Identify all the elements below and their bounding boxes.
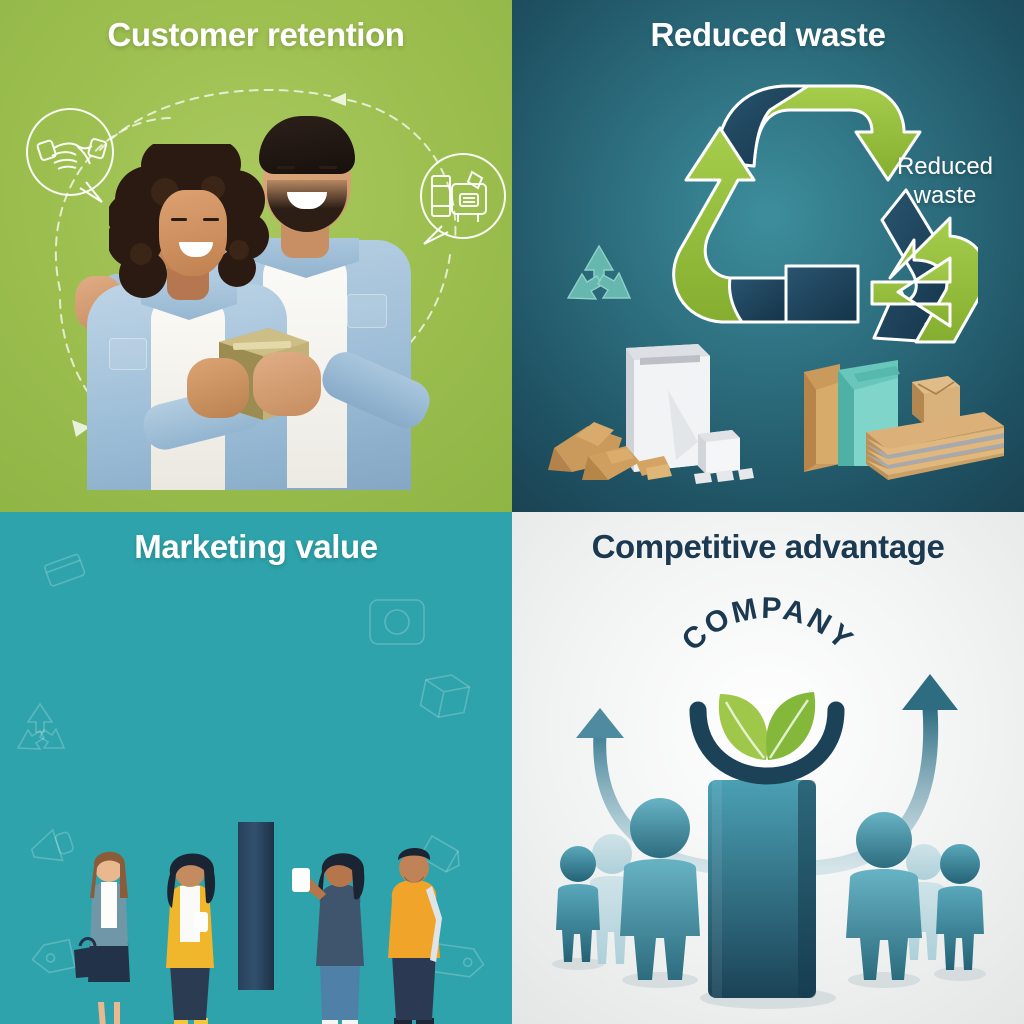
crowd-illustration [70, 842, 450, 1024]
packaging-stack [788, 352, 1012, 502]
couple-photo [91, 90, 421, 490]
panel-title-customer-retention: Customer retention [0, 16, 512, 54]
infographic-grid: Customer retention [0, 0, 1024, 1024]
package-icon [408, 148, 512, 252]
man-hands-on-gift [253, 352, 321, 416]
man-shirt-pocket-right [347, 294, 387, 328]
person-woman-briefcase [74, 852, 130, 1024]
panel-title-marketing-value: Marketing value [0, 528, 512, 566]
person-man-orange [388, 848, 442, 1024]
woman-hands-on-gift [187, 358, 249, 418]
figure-large-left [620, 798, 700, 980]
person-woman-tablet [292, 853, 364, 1024]
megaphone-icon [28, 826, 76, 869]
panel-marketing-value: Sustainable Packaging [0, 512, 512, 1024]
woman-eye-left [171, 218, 187, 221]
woman-face [159, 190, 227, 276]
man-eye-right [319, 166, 337, 169]
panel-title-reduced-waste: Reduced waste [512, 16, 1024, 54]
sublabel-line-2: waste [914, 182, 977, 209]
figure-small-left [556, 846, 600, 962]
stick-figures-crowd [512, 512, 1024, 1024]
sublabel-line-1: Reduced [897, 153, 993, 180]
panel-reduced-waste: Reduced waste Reduced waste [512, 0, 1024, 512]
person-woman-phone-yellow [166, 853, 215, 1024]
reduced-waste-sublabel: Reduced waste [880, 152, 1010, 211]
woman-shirt-pocket [109, 338, 147, 370]
box-icon [419, 670, 471, 722]
company-pedestal [708, 780, 816, 998]
recycle-icon [18, 704, 64, 749]
recycling-symbol [658, 70, 978, 360]
company-logo-text: COMPANY [658, 620, 878, 730]
panel-customer-retention: Customer retention [0, 0, 512, 512]
waste-pile [548, 330, 758, 490]
panel-title-competitive-advantage: Competitive advantage [512, 528, 1024, 566]
panel-competitive-advantage: COMPANY Competitive advantage [512, 512, 1024, 1024]
figure-small-right [936, 844, 984, 970]
small-recycle-icon [560, 240, 638, 316]
tag-icon [30, 940, 75, 976]
camera-icon [370, 600, 424, 644]
woman-eye-right [203, 218, 219, 221]
